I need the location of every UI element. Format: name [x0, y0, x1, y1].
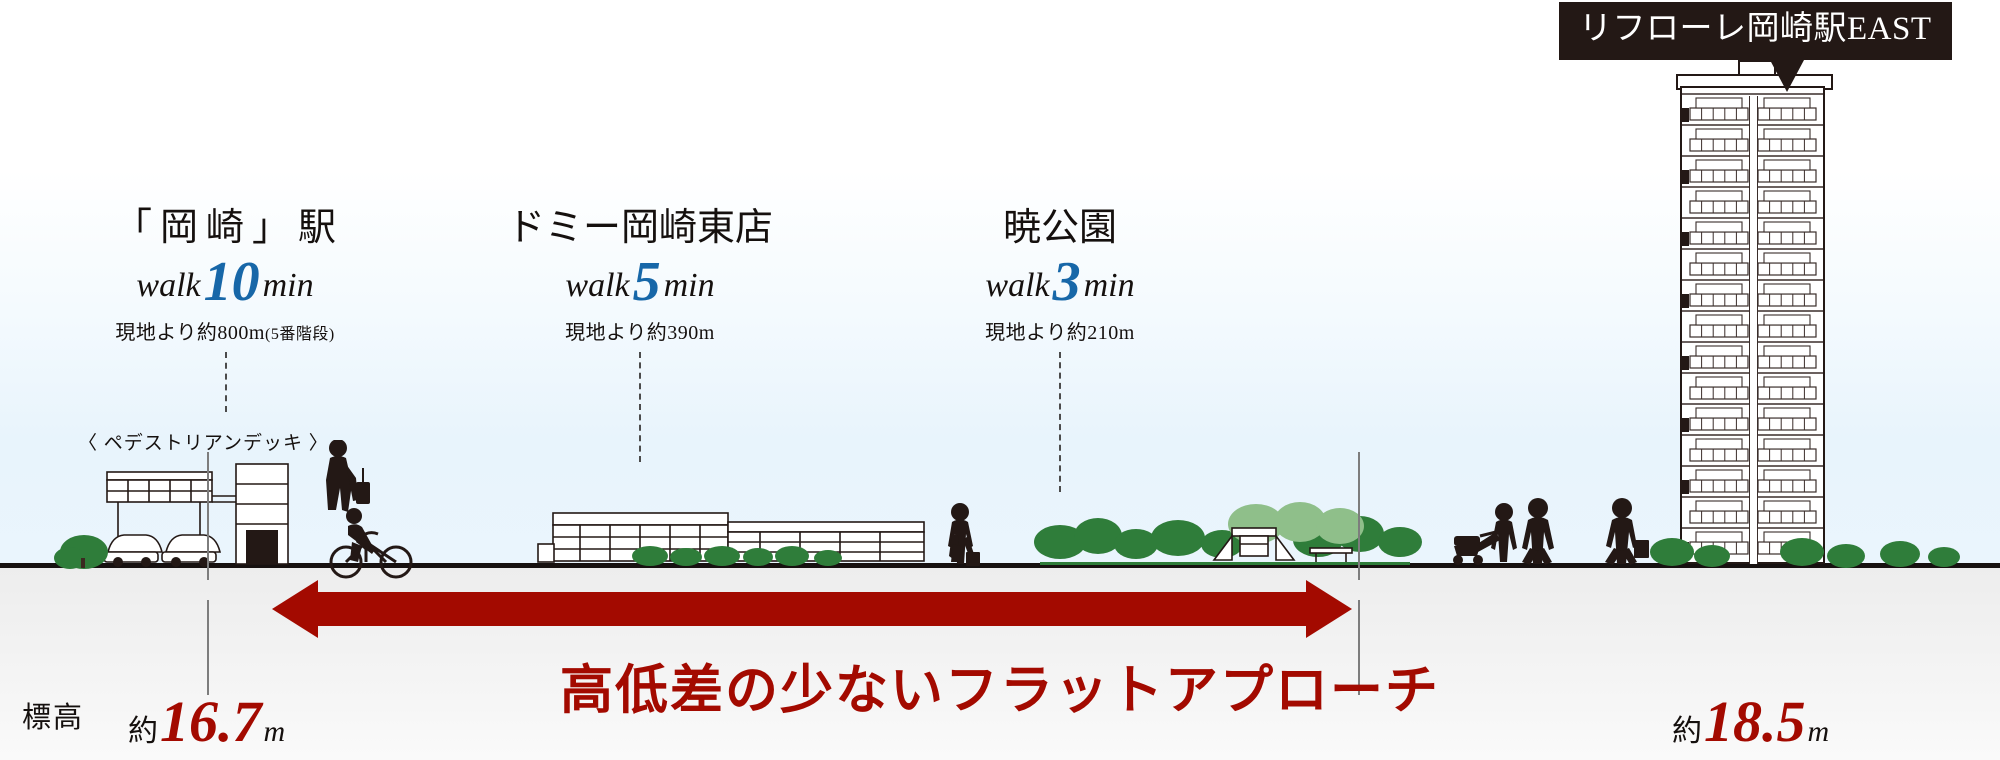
poi-walktime-park: walk3min	[890, 254, 1230, 310]
elevation-left-unit: m	[264, 715, 286, 748]
poi-title-okazaki-station: 「岡崎」駅	[60, 208, 390, 250]
shrubs-near-tower	[1650, 538, 1960, 568]
elevation-left-prefix: 約	[128, 715, 158, 748]
poi-title-park: 暁公園	[890, 208, 1230, 250]
pedestrian-with-stroller	[1453, 503, 1517, 565]
walk-minutes: 5	[630, 251, 664, 313]
pedestrian-walking-right	[1522, 498, 1554, 565]
property-callout-text: リフローレ岡崎駅EAST	[1579, 11, 1932, 47]
property-callout-label: リフローレ岡崎駅EAST	[1559, 2, 1952, 60]
property-callout-pointer	[1770, 60, 1804, 92]
walk-suffix: min	[263, 267, 314, 304]
poi-akatsuki-park: 暁公園 walk3min 現地より約210m	[890, 208, 1230, 345]
walk-prefix: walk	[985, 267, 1049, 304]
poi-distance-park: 現地より約210m	[890, 316, 1230, 345]
elevation-guide-right	[1358, 452, 1360, 580]
poi-domy-okazaki-higashi: ドミー岡崎東店 walk5min 現地より約390m	[470, 208, 810, 345]
elevation-guide-left	[207, 452, 209, 580]
park-bench	[1310, 548, 1352, 562]
elevation-right-prefix: 約	[1672, 715, 1702, 748]
elevation-left-number: 16.7	[158, 689, 264, 754]
shrub-left	[54, 535, 108, 569]
elevation-axis-label: 標高	[22, 694, 84, 736]
poi-distance-okazaki-station: 現地より約800m(5番階段)	[60, 316, 390, 345]
walk-minutes: 10	[201, 251, 263, 313]
poi-walktime-okazaki-station: walk10min	[60, 254, 390, 310]
arrow-shaft	[312, 592, 1312, 626]
infographic-canvas: リフローレ岡崎駅EAST 「岡崎」駅 walk10min 現地より約800m(5…	[0, 0, 2000, 760]
poi-distance-domy: 現地より約390m	[470, 316, 810, 345]
poi-title-domy: ドミー岡崎東店	[470, 208, 810, 250]
distance-note: (5番階段)	[265, 326, 335, 343]
elevation-value-right: 約18.5m	[1672, 688, 1829, 755]
elevation-right-number: 18.5	[1702, 689, 1808, 754]
pedestrian-with-briefcase	[1605, 498, 1649, 565]
elevation-value-left: 約16.7m	[128, 688, 285, 755]
walk-suffix: min	[664, 267, 715, 304]
walk-suffix: min	[1084, 267, 1135, 304]
flat-approach-double-arrow	[272, 580, 1352, 638]
elevation-right-unit: m	[1808, 715, 1830, 748]
pedestrian-woman-with-bag	[948, 503, 980, 566]
walk-prefix: walk	[136, 267, 200, 304]
distance-text: 現地より約800m	[115, 322, 265, 344]
leader-line-okazaki-station	[225, 352, 227, 412]
poi-walktime-domy: walk5min	[470, 254, 810, 310]
arrow-head-right	[1306, 580, 1352, 638]
park-hedge-baseline	[1040, 562, 1410, 565]
cyclist-silhouette	[331, 508, 411, 577]
parked-cars	[104, 535, 220, 567]
walk-prefix: walk	[565, 267, 629, 304]
walk-minutes: 3	[1050, 251, 1084, 313]
poi-okazaki-station: 「岡崎」駅 walk10min 現地より約800m(5番階段)	[60, 208, 390, 345]
traveler-silhouette	[326, 440, 370, 512]
